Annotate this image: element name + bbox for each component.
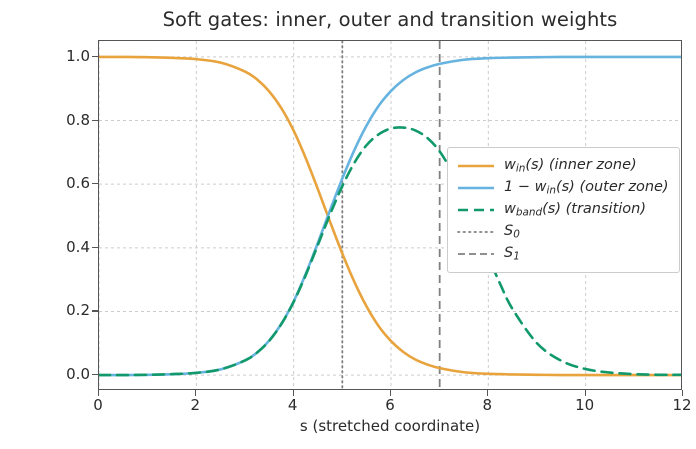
legend-label: S1 <box>504 246 520 262</box>
x-tick-labels: 024681012 <box>98 396 682 418</box>
x-tick-label: 10 <box>565 396 605 414</box>
x-tick-mark <box>293 390 294 396</box>
legend-item-s-0[interactable]: S0 <box>457 221 670 243</box>
y-tick-label: 0.2 <box>44 301 90 319</box>
legend-item-w-band-s-transition[interactable]: wband(s) (transition) <box>457 199 670 221</box>
legend-item-1-w-in-s-outer-zone[interactable]: 1 − win(s) (outer zone) <box>457 177 670 199</box>
x-tick-label: 6 <box>370 396 410 414</box>
legend-swatch-icon <box>457 181 495 195</box>
chart-title: Soft gates: inner, outer and transition … <box>98 8 682 31</box>
y-tick-label: 0.0 <box>44 365 90 383</box>
y-tick-label: 0.6 <box>44 174 90 192</box>
y-tick-labels: 0.00.20.40.60.81.0 <box>40 40 90 390</box>
x-tick-mark <box>585 390 586 396</box>
legend-item-w-in-s-inner-zone[interactable]: win(s) (inner zone) <box>457 155 670 177</box>
legend-swatch-icon <box>457 247 495 261</box>
x-tick-label: 4 <box>273 396 313 414</box>
x-tick-mark <box>390 390 391 396</box>
x-tick-label: 12 <box>662 396 696 414</box>
x-tick-mark <box>487 390 488 396</box>
y-tick-label: 1.0 <box>44 47 90 65</box>
y-tick-label: 0.4 <box>44 238 90 256</box>
y-tick-label: 0.8 <box>44 111 90 129</box>
legend-item-s-1[interactable]: S1 <box>457 243 670 265</box>
x-axis-label: s (stretched coordinate) <box>98 417 682 435</box>
legend-swatch-icon <box>457 159 495 173</box>
x-tick-mark <box>195 390 196 396</box>
chart-legend: win(s) (inner zone)1 − win(s) (outer zon… <box>447 147 680 273</box>
legend-label: win(s) (inner zone) <box>504 158 637 174</box>
x-tick-label: 8 <box>467 396 507 414</box>
x-tick-mark <box>98 390 99 396</box>
legend-swatch-icon <box>457 203 495 217</box>
x-tick-label: 0 <box>78 396 118 414</box>
legend-swatch-icon <box>457 225 495 239</box>
legend-label: S0 <box>504 224 520 240</box>
x-tick-label: 2 <box>175 396 215 414</box>
chart-figure: Soft gates: inner, outer and transition … <box>0 0 696 449</box>
legend-label: wband(s) (transition) <box>504 202 646 218</box>
legend-label: 1 − win(s) (outer zone) <box>504 180 669 196</box>
x-tick-mark <box>682 390 683 396</box>
